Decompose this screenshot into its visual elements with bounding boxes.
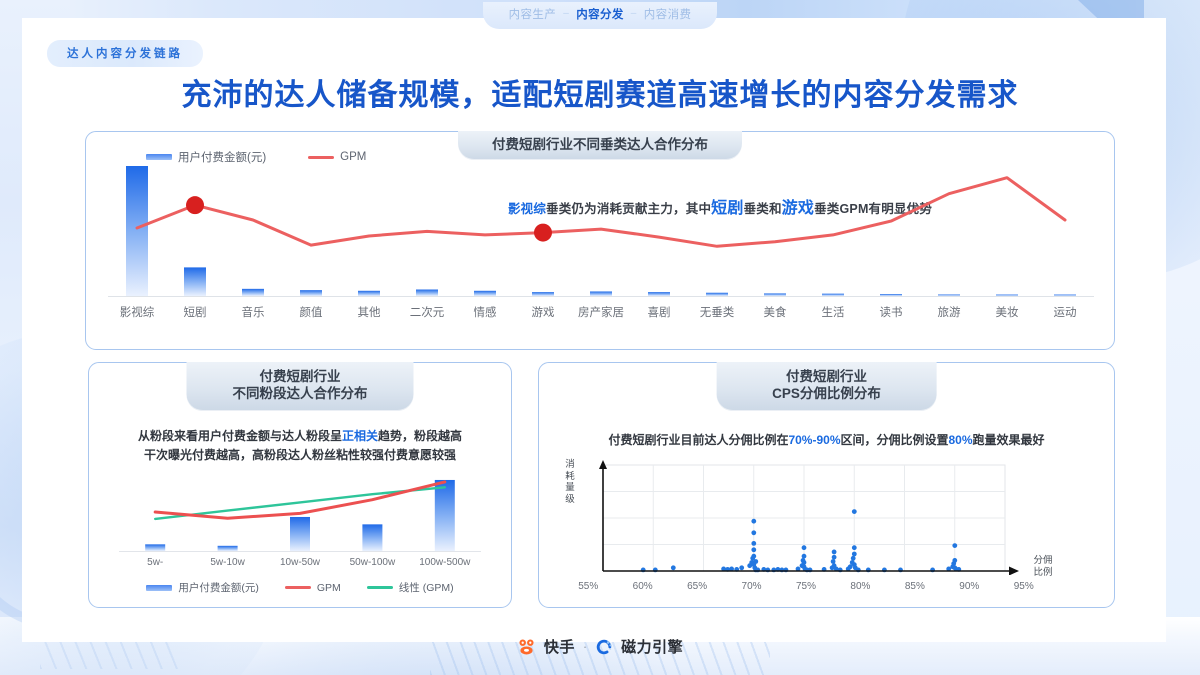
nav-item-content-consumption[interactable]: 内容消费 bbox=[644, 6, 692, 22]
legend-item-linear-gpm: 线性 (GPM) bbox=[367, 580, 454, 595]
x-tick-label: 55% bbox=[561, 581, 615, 592]
page-title: 充沛的达人储备规模，适配短剧赛道高速增长的内容分发需求 bbox=[0, 70, 1200, 114]
scatter-point bbox=[852, 552, 857, 557]
scatter-point bbox=[739, 565, 744, 570]
scatter-point bbox=[802, 560, 807, 565]
main-chart-x-axis-labels: 影视综短剧音乐颜值其他二次元情感游戏房产家居喜剧无垂类美食生活读书旅游美妆运动 bbox=[108, 304, 1094, 320]
bar bbox=[362, 524, 382, 551]
legend-label: GPM bbox=[317, 582, 341, 594]
panel-title-line2: CPS分佣比例分布 bbox=[772, 385, 881, 402]
x-tick-label: 情感 bbox=[456, 304, 514, 320]
x-tick-label: 70% bbox=[724, 581, 778, 592]
cps-chart-x-axis-arrow-icon bbox=[1009, 567, 1019, 576]
data-point-marker-游戏 bbox=[534, 224, 552, 242]
panel-vertical-distribution: 付费短剧行业不同垂类达人合作分布 用户付费金额(元) GPM 影视综垂类仍为消耗… bbox=[85, 131, 1115, 350]
x-tick-label: 5w- bbox=[119, 557, 191, 568]
cps-chart-x-axis-labels: 55%60%65%70%75%80%85%90%95% bbox=[561, 581, 1051, 592]
x-tick-label: 短剧 bbox=[166, 304, 224, 320]
bar bbox=[184, 267, 206, 296]
panel-title-cps: 付费短剧行业 CPS分佣比例分布 bbox=[716, 362, 937, 411]
cps-chart-y-axis-label: 消耗量级 bbox=[563, 459, 577, 505]
scatter-point bbox=[751, 547, 756, 552]
x-tick-label: 生活 bbox=[804, 304, 862, 320]
main-chart-plot bbox=[108, 162, 1094, 296]
scatter-point bbox=[802, 545, 807, 550]
footer-brand-kuaishou: 快手 bbox=[544, 636, 575, 657]
scatter-point bbox=[852, 509, 857, 514]
nav-separator: – bbox=[563, 8, 569, 19]
x-tick-label: 50w-100w bbox=[336, 557, 408, 568]
data-point-marker-短剧 bbox=[186, 196, 204, 214]
nav-pill: 内容生产 – 内容分发 – 内容消费 bbox=[483, 2, 718, 29]
scatter-point bbox=[852, 545, 857, 550]
legend-item-user-payment: 用户付费金额(元) bbox=[146, 580, 259, 595]
cps-subtitle-plain-2: 区间，分佣比例设置 bbox=[840, 433, 948, 447]
nav-item-content-production[interactable]: 内容生产 bbox=[509, 6, 557, 22]
x-tick-label: 音乐 bbox=[224, 304, 282, 320]
x-tick-label: 影视综 bbox=[108, 304, 166, 320]
legend-swatch-line-icon bbox=[285, 586, 311, 589]
panel-title-line2: 不同粉段达人合作分布 bbox=[233, 385, 368, 402]
x-tick-label: 65% bbox=[670, 581, 724, 592]
x-tick-label: 95% bbox=[997, 581, 1051, 592]
fans-chart-axis-line bbox=[119, 551, 481, 552]
bar bbox=[242, 289, 264, 296]
bar bbox=[145, 544, 165, 551]
main-chart-bars bbox=[126, 166, 1076, 296]
scatter-point bbox=[952, 558, 957, 563]
fans-subtitle-line2: 干次曝光付费越高，高粉段达人粉丝粘性较强付费意愿较强 bbox=[144, 448, 456, 462]
x-tick-label: 5w-10w bbox=[191, 557, 263, 568]
x-tick-label: 85% bbox=[888, 581, 942, 592]
bar bbox=[290, 517, 310, 551]
footer-branding: 快手 · 磁力引擎 bbox=[0, 636, 1200, 657]
panel-title-fan-tier: 付费短剧行业 不同粉段达人合作分布 bbox=[187, 362, 414, 411]
scatter-point bbox=[952, 543, 957, 548]
legend-label: 线性 (GPM) bbox=[399, 580, 454, 595]
x-tick-label: 60% bbox=[615, 581, 669, 592]
scatter-point bbox=[671, 565, 676, 570]
x-tick-label: 90% bbox=[942, 581, 996, 592]
cps-subtitle-plain-3: 跑量效果最好 bbox=[973, 433, 1045, 447]
scatter-point bbox=[832, 555, 837, 560]
scatter-point bbox=[802, 554, 807, 559]
fans-subtitle-plain-2: 趋势，粉段越高 bbox=[378, 429, 462, 443]
panel-title-vertical-distribution: 付费短剧行业不同垂类达人合作分布 bbox=[458, 131, 742, 160]
x-tick-label: 美妆 bbox=[978, 304, 1036, 320]
main-chart-gpm-line bbox=[137, 178, 1065, 247]
legend-item-gpm: GPM bbox=[285, 582, 341, 594]
cps-subtitle-plain-1: 付费短剧行业目前达人分佣比例在 bbox=[608, 433, 788, 447]
x-tick-label: 10w-50w bbox=[264, 557, 336, 568]
fans-chart-legend: 用户付费金额(元) GPM 线性 (GPM) bbox=[89, 580, 511, 595]
legend-swatch-bar-icon bbox=[146, 154, 172, 160]
section-kicker-badge: 达人内容分发链路 bbox=[47, 40, 203, 67]
x-tick-label: 二次元 bbox=[398, 304, 456, 320]
scatter-point bbox=[848, 564, 853, 569]
footer-brand-magnetic-engine: 磁力引擎 bbox=[621, 636, 683, 657]
fans-chart-x-axis-labels: 5w-5w-10w10w-50w50w-100w100w-500w bbox=[119, 557, 481, 568]
panel-fan-tier-distribution: 付费短剧行业 不同粉段达人合作分布 从粉段来看用户付费金额与达人粉段呈正相关趋势… bbox=[88, 362, 512, 608]
x-tick-label: 喜剧 bbox=[630, 304, 688, 320]
legend-swatch-bar-icon bbox=[146, 585, 172, 591]
x-tick-label: 运动 bbox=[1036, 304, 1094, 320]
x-tick-label: 其他 bbox=[340, 304, 398, 320]
scatter-point bbox=[751, 519, 756, 524]
panel-title-text: 付费短剧行业不同垂类达人合作分布 bbox=[492, 136, 708, 153]
scatter-point bbox=[832, 550, 837, 555]
cps-subtitle-highlight-80: 80% bbox=[949, 433, 973, 447]
x-tick-label: 旅游 bbox=[920, 304, 978, 320]
legend-label: 用户付费金额(元) bbox=[178, 580, 259, 595]
kuaishou-logo-icon bbox=[517, 637, 536, 656]
scatter-point bbox=[831, 559, 836, 564]
fans-subtitle-plain-1: 从粉段来看用户付费金额与达人粉段呈 bbox=[138, 429, 342, 443]
bar bbox=[126, 166, 148, 296]
cps-subtitle-highlight-range: 70%-90% bbox=[788, 433, 840, 447]
x-tick-label: 75% bbox=[779, 581, 833, 592]
cps-chart-plot bbox=[585, 459, 1025, 575]
x-tick-label: 游戏 bbox=[514, 304, 572, 320]
x-tick-label: 80% bbox=[833, 581, 887, 592]
x-tick-label: 读书 bbox=[862, 304, 920, 320]
scatter-point bbox=[753, 559, 758, 564]
legend-swatch-line-green-icon bbox=[367, 586, 393, 589]
x-tick-label: 颜值 bbox=[282, 304, 340, 320]
x-tick-label: 美食 bbox=[746, 304, 804, 320]
cps-chart-x-axis-label: 分佣比例 bbox=[1032, 555, 1054, 578]
legend-swatch-line-icon bbox=[308, 156, 334, 159]
nav-item-content-distribution[interactable]: 内容分发 bbox=[576, 6, 624, 22]
x-tick-label: 无垂类 bbox=[688, 304, 746, 320]
panel-cps-commission-distribution: 付费短剧行业 CPS分佣比例分布 付费短剧行业目前达人分佣比例在70%-90%区… bbox=[538, 362, 1115, 608]
scatter-point bbox=[751, 530, 756, 535]
x-tick-label: 100w-500w bbox=[409, 557, 481, 568]
x-tick-label: 房产家居 bbox=[572, 304, 630, 320]
fans-chart-subtitle: 从粉段来看用户付费金额与达人粉段呈正相关趋势，粉段越高 干次曝光付费越高，高粉段… bbox=[103, 427, 497, 465]
magnetic-engine-logo-icon bbox=[595, 638, 613, 656]
main-chart-axis-line bbox=[108, 296, 1094, 297]
bar bbox=[435, 480, 455, 551]
fans-subtitle-highlight: 正相关 bbox=[342, 429, 378, 443]
fans-chart-plot bbox=[119, 473, 481, 551]
scatter-point bbox=[851, 556, 856, 561]
panel-title-line1: 付费短剧行业 bbox=[772, 368, 881, 385]
top-navigation: 内容生产 – 内容分发 – 内容消费 bbox=[0, 0, 1200, 30]
scatter-point bbox=[751, 541, 756, 546]
footer-separator-dot: · bbox=[583, 639, 587, 654]
cps-chart-subtitle: 付费短剧行业目前达人分佣比例在70%-90%区间，分佣比例设置80%跑量效果最好 bbox=[553, 431, 1100, 448]
nav-separator: – bbox=[631, 8, 637, 19]
scatter-point bbox=[751, 554, 756, 559]
panel-title-line1: 付费短剧行业 bbox=[233, 368, 368, 385]
